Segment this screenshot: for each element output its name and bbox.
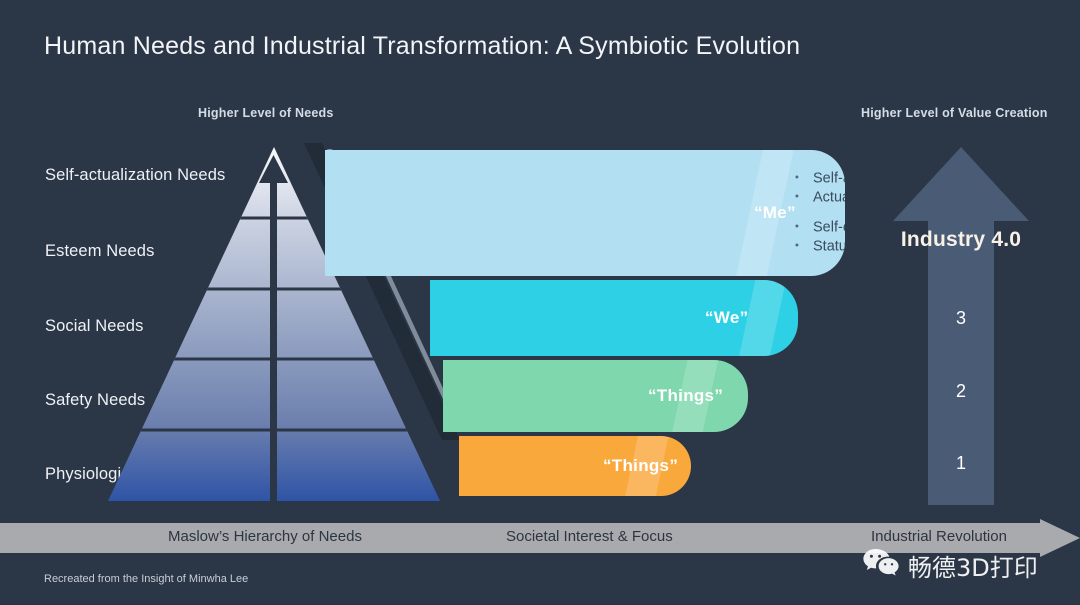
revolution-stage-2: 2 <box>888 381 1034 402</box>
watermark-text: 畅德3D打印 <box>908 548 1038 583</box>
revolution-stage-1: 1 <box>888 453 1034 474</box>
bar-survival[interactable]: •Survival “Things” <box>459 436 691 496</box>
band-label-maslow: Maslow’s Hierarchy of Needs <box>168 528 362 545</box>
wechat-icon <box>862 548 900 583</box>
bullet-text: Actualization of others <box>813 188 845 207</box>
bullet-dot: • <box>795 239 813 254</box>
watermark: 畅德3D打印 <box>862 548 1038 583</box>
bar-me[interactable]: •Self-actualization •Actualization of ot… <box>325 150 845 276</box>
industry-4-0-label: Industry 4.0 <box>888 228 1034 252</box>
bar-survival-tag: “Things” <box>603 456 678 476</box>
bar-we-tag: “We” <box>705 308 748 328</box>
bar-me-tag: “Me” <box>754 203 796 223</box>
bar-we[interactable]: •Social networking •Communication “We” <box>430 280 798 356</box>
heading-higher-level-of-value-creation: Higher Level of Value Creation <box>861 106 1048 120</box>
page-title: Human Needs and Industrial Transformatio… <box>44 32 800 61</box>
bar-me-bullets: •Self-actualization •Actualization of ot… <box>795 169 845 257</box>
heading-higher-level-of-needs: Higher Level of Needs <box>198 106 334 120</box>
revolution-stage-3: 3 <box>888 308 1034 329</box>
footnote: Recreated from the Insight of Minwha Lee <box>44 573 248 585</box>
bullet-text: Self-actualization <box>813 169 845 188</box>
bar-things-tag: “Things” <box>648 386 723 406</box>
bullet-text: Status <box>813 238 845 257</box>
bar-things[interactable]: •Convenience •Ownership “Things” <box>443 360 748 432</box>
bullet-text: Self-expression <box>813 219 845 238</box>
bullet-dot: • <box>795 189 813 204</box>
bullet-dot: • <box>795 220 813 235</box>
slide-canvas: Human Needs and Industrial Transformatio… <box>0 0 1080 605</box>
bullet-dot: • <box>795 170 813 185</box>
band-label-society: Societal Interest & Focus <box>506 528 673 545</box>
band-label-revolution: Industrial Revolution <box>871 528 1007 545</box>
